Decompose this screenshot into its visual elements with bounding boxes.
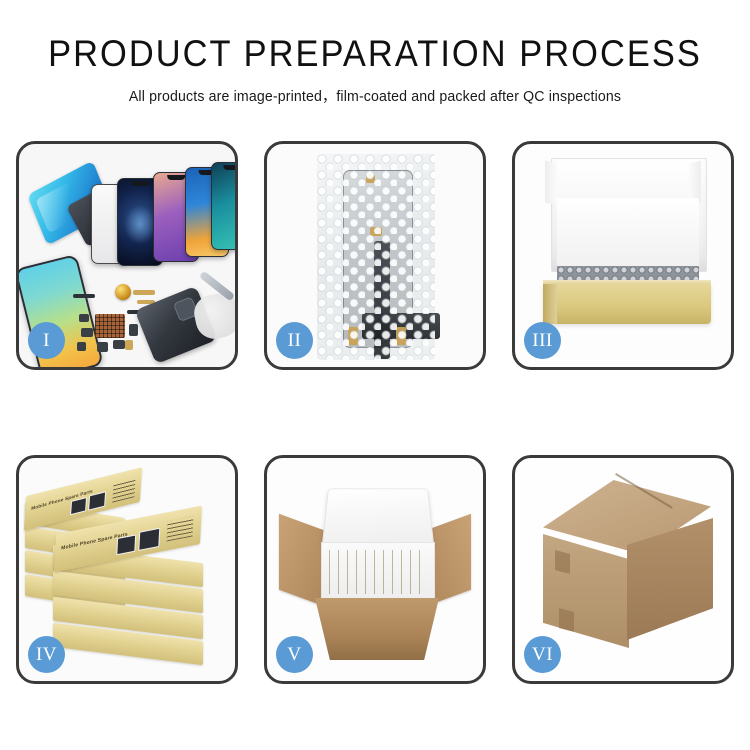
step-panel-6: VI (512, 455, 734, 684)
notch-icon (223, 165, 235, 170)
header: PRODUCT PREPARATION PROCESS All products… (0, 34, 750, 106)
box-spec-lines (112, 479, 135, 503)
flex-cable (133, 290, 155, 295)
box-screen-image (88, 491, 106, 511)
carton-tape-patch (559, 608, 574, 632)
small-chip (113, 340, 125, 349)
small-chip (81, 328, 93, 337)
small-chip (129, 324, 138, 336)
small-chip (79, 314, 89, 322)
notch-icon (131, 181, 149, 186)
phone-screen-teal (211, 162, 235, 250)
product-preparation-infographic: PRODUCT PREPARATION PROCESS All products… (0, 0, 750, 750)
page-title: PRODUCT PREPARATION PROCESS (26, 34, 724, 74)
box-screen-image (70, 497, 87, 515)
antenna-strip (73, 294, 95, 298)
flex-cable (125, 340, 133, 350)
small-chip (77, 342, 86, 351)
packed-yellow-boxes (329, 550, 425, 594)
step-panel-3: III (512, 141, 734, 370)
box-spec-lines (166, 516, 193, 541)
step-badge-4: IV (28, 636, 65, 673)
bubble-texture (317, 154, 435, 360)
yellow-box-body (543, 284, 711, 324)
step-badge-1: I (28, 322, 65, 359)
copper-mesh-component (95, 314, 125, 338)
step-panel-2: II (264, 141, 486, 370)
box-screen-image (116, 534, 136, 555)
phone-screen-fan (91, 162, 235, 262)
step-panel-4: Mobile Phone Spare Parts Mobile Phone Sp… (16, 455, 238, 684)
foam-sheet (557, 198, 699, 270)
step-badge-2: II (276, 322, 313, 359)
bubble-wrap-bag (317, 154, 435, 360)
step-badge-5: V (276, 636, 313, 673)
coil-component (115, 284, 131, 300)
process-step-grid: I II (16, 141, 734, 684)
foam-lid (322, 488, 435, 547)
notch-icon (167, 175, 185, 180)
carton-tape-patch (555, 550, 570, 574)
page-subtitle: All products are image-printed，film-coat… (11, 85, 739, 106)
step-badge-6: VI (524, 636, 561, 673)
carton-body (315, 598, 439, 660)
step-panel-1: I (16, 141, 238, 370)
small-chip (97, 342, 108, 352)
step-panel-5: V (264, 455, 486, 684)
box-screen-image (138, 528, 160, 551)
box-flap-left (545, 161, 557, 206)
step-badge-3: III (524, 322, 561, 359)
